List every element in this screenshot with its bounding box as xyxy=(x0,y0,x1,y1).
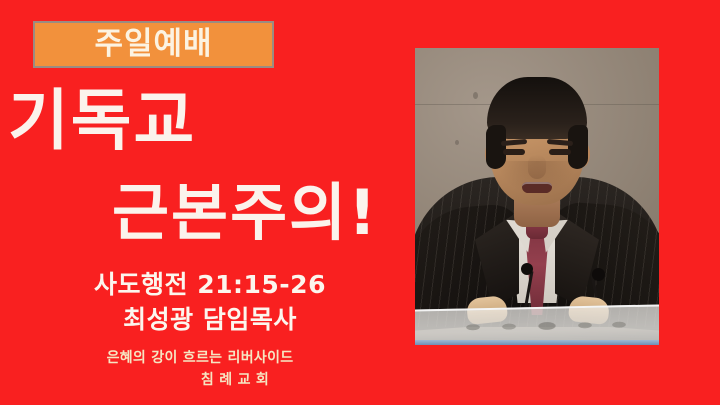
eye-right xyxy=(549,149,571,155)
eye-left xyxy=(503,149,525,155)
hair-side-right xyxy=(568,125,588,169)
pulpit-scroll-ornament xyxy=(455,313,635,338)
mouth xyxy=(522,182,552,193)
category-badge-label: 주일예배 xyxy=(94,29,212,60)
wall-speck xyxy=(455,140,459,145)
wall-speck xyxy=(473,92,478,99)
nose xyxy=(528,155,546,179)
speaker-name: 최성광 담임목사 xyxy=(0,305,420,334)
microphone-head-left xyxy=(521,263,533,275)
photo-bottom-strip xyxy=(415,340,659,345)
speaker-photo xyxy=(415,48,659,345)
church-name: 침 례 교 회 xyxy=(70,372,400,390)
sermon-title-line-2: 근본주의! xyxy=(112,182,378,244)
sermon-title-slide: 주일예배 기독교 근본주의! 사도행전 21:15-26 최성광 담임목사 은혜… xyxy=(0,0,720,405)
category-badge: 주일예배 xyxy=(33,21,274,68)
church-identity: 은혜의 강이 흐르는 리버사이드 침 례 교 회 xyxy=(0,350,400,389)
sermon-title-line-1: 기독교 xyxy=(8,88,196,154)
hair-side-left xyxy=(486,125,506,169)
church-tagline: 은혜의 강이 흐르는 리버사이드 xyxy=(0,350,400,368)
sermon-details: 사도행전 21:15-26 최성광 담임목사 xyxy=(0,270,420,334)
microphone-head-right xyxy=(592,268,605,281)
scripture-reference: 사도행전 21:15-26 xyxy=(0,270,420,299)
